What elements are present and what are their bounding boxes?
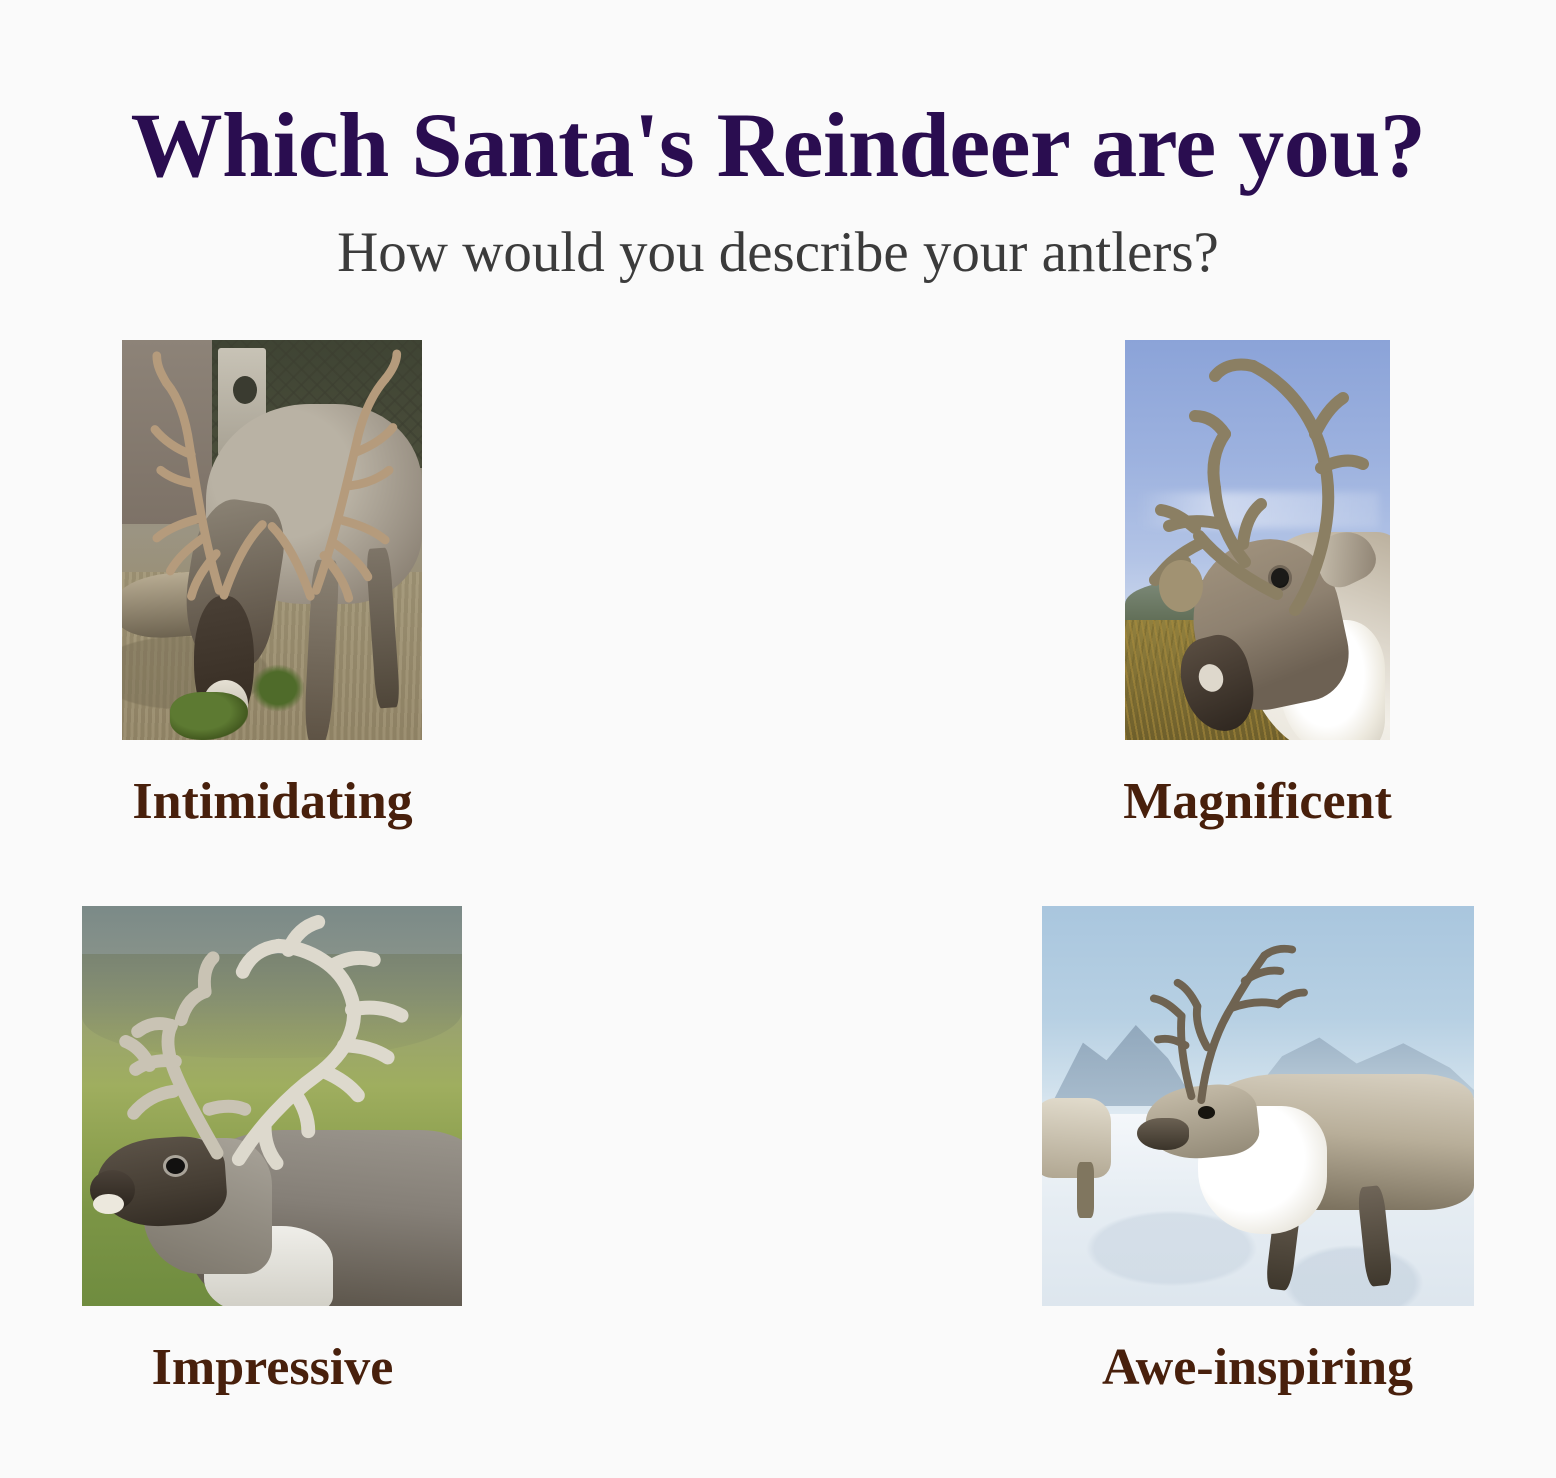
reindeer-portrait-illustration	[1125, 340, 1390, 740]
answer-image-intimidating[interactable]	[122, 340, 422, 740]
reindeer-velvet-antlers-illustration	[82, 906, 462, 1306]
quiz-page: Which Santa's Reindeer are you? How woul…	[0, 0, 1556, 1478]
antlers-icon	[90, 914, 447, 1178]
question-text: How would you describe your antlers?	[0, 222, 1556, 285]
antlers-icon	[128, 348, 416, 668]
answer-label-impressive[interactable]: Impressive	[0, 1338, 545, 1397]
answer-label-awe-inspiring[interactable]: Awe-inspiring	[1000, 1338, 1515, 1397]
antlers-icon	[1125, 348, 1390, 628]
reindeer-in-snow-illustration	[1042, 906, 1474, 1306]
answer-image-magnificent[interactable]	[1125, 340, 1390, 740]
reindeer-grazing-illustration	[122, 340, 422, 740]
answer-label-intimidating[interactable]: Intimidating	[0, 772, 545, 831]
answer-image-awe-inspiring[interactable]	[1042, 906, 1474, 1306]
answer-image-impressive[interactable]	[82, 906, 462, 1306]
answer-label-magnificent[interactable]: Magnificent	[990, 772, 1525, 831]
answer-options-grid: Intimidating	[0, 340, 1556, 1450]
page-title: Which Santa's Reindeer are you?	[0, 96, 1556, 195]
antlers-icon	[1146, 930, 1319, 1106]
